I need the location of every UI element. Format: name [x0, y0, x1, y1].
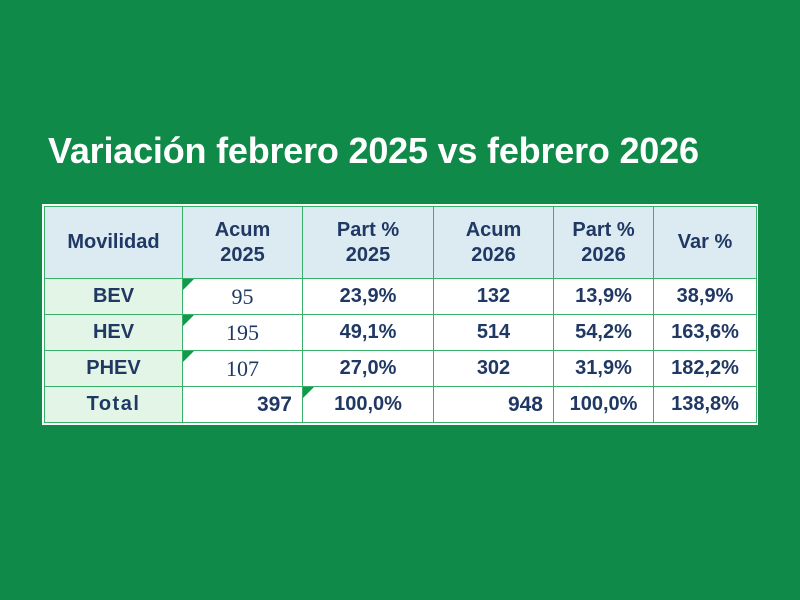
cell-acum-2025-value: 107 — [226, 356, 259, 381]
page-title: Variación febrero 2025 vs febrero 2026 — [48, 129, 758, 173]
comment-marker-icon — [183, 351, 194, 362]
column-header-movilidad-line1: Movilidad — [53, 230, 174, 255]
column-header-movilidad: Movilidad — [45, 207, 183, 279]
cell-acum-2026: 514 — [434, 315, 554, 351]
comparison-table-container: Movilidad Acum 2025 Part % 2025 Acum 202… — [42, 204, 758, 425]
column-header-acum-2026-line2: 2026 — [442, 243, 545, 268]
cell-acum-2026: 948 — [434, 387, 554, 423]
table-body: BEV 95 23,9% 132 13,9% 38,9% HEV 195 — [45, 279, 757, 423]
cell-acum-2025: 195 — [183, 315, 303, 351]
column-header-acum-2026-line1: Acum — [442, 218, 545, 243]
column-header-acum-2025-line1: Acum — [191, 218, 294, 243]
table-row: BEV 95 23,9% 132 13,9% 38,9% — [45, 279, 757, 315]
cell-part-2026: 100,0% — [554, 387, 654, 423]
comparison-table: Movilidad Acum 2025 Part % 2025 Acum 202… — [44, 206, 757, 423]
cell-movilidad: PHEV — [45, 351, 183, 387]
slide-canvas: Variación febrero 2025 vs febrero 2026 M… — [0, 0, 800, 600]
column-header-acum-2025-line2: 2025 — [191, 243, 294, 268]
table-row: HEV 195 49,1% 514 54,2% 163,6% — [45, 315, 757, 351]
column-header-acum-2026: Acum 2026 — [434, 207, 554, 279]
cell-acum-2025: 107 — [183, 351, 303, 387]
cell-part-2026: 13,9% — [554, 279, 654, 315]
column-header-acum-2025: Acum 2025 — [183, 207, 303, 279]
cell-acum-2026: 302 — [434, 351, 554, 387]
cell-part-2025: 27,0% — [303, 351, 434, 387]
cell-var-pct: 163,6% — [654, 315, 757, 351]
cell-var-pct: 38,9% — [654, 279, 757, 315]
cell-part-2025: 23,9% — [303, 279, 434, 315]
column-header-part-2026: Part % 2026 — [554, 207, 654, 279]
table-header: Movilidad Acum 2025 Part % 2025 Acum 202… — [45, 207, 757, 279]
table-row: PHEV 107 27,0% 302 31,9% 182,2% — [45, 351, 757, 387]
cell-var-pct: 138,8% — [654, 387, 757, 423]
comment-marker-icon — [183, 279, 194, 290]
cell-movilidad: HEV — [45, 315, 183, 351]
column-header-part-2026-line1: Part % — [562, 218, 645, 243]
cell-acum-2025: 95 — [183, 279, 303, 315]
cell-acum-2025-value: 95 — [232, 284, 254, 309]
cell-acum-2026: 132 — [434, 279, 554, 315]
cell-part-2025: 49,1% — [303, 315, 434, 351]
comment-marker-icon — [183, 315, 194, 326]
cell-part-2026: 54,2% — [554, 315, 654, 351]
cell-part-2025: 100,0% — [303, 387, 434, 423]
cell-movilidad: Total — [45, 387, 183, 423]
column-header-var-pct: Var % — [654, 207, 757, 279]
table-header-row: Movilidad Acum 2025 Part % 2025 Acum 202… — [45, 207, 757, 279]
column-header-part-2025: Part % 2025 — [303, 207, 434, 279]
cell-acum-2025: 397 — [183, 387, 303, 423]
column-header-part-2025-line1: Part % — [311, 218, 425, 243]
cell-movilidad: BEV — [45, 279, 183, 315]
column-header-var-pct-line1: Var % — [662, 230, 748, 255]
cell-part-2025-value: 100,0% — [334, 393, 402, 415]
table-row-total: Total 397 100,0% 948 100,0% 138,8% — [45, 387, 757, 423]
column-header-part-2025-line2: 2025 — [311, 243, 425, 268]
cell-part-2026: 31,9% — [554, 351, 654, 387]
cell-var-pct: 182,2% — [654, 351, 757, 387]
cell-acum-2025-value: 195 — [226, 320, 259, 345]
comment-marker-icon — [303, 387, 314, 398]
column-header-part-2026-line2: 2026 — [562, 243, 645, 268]
